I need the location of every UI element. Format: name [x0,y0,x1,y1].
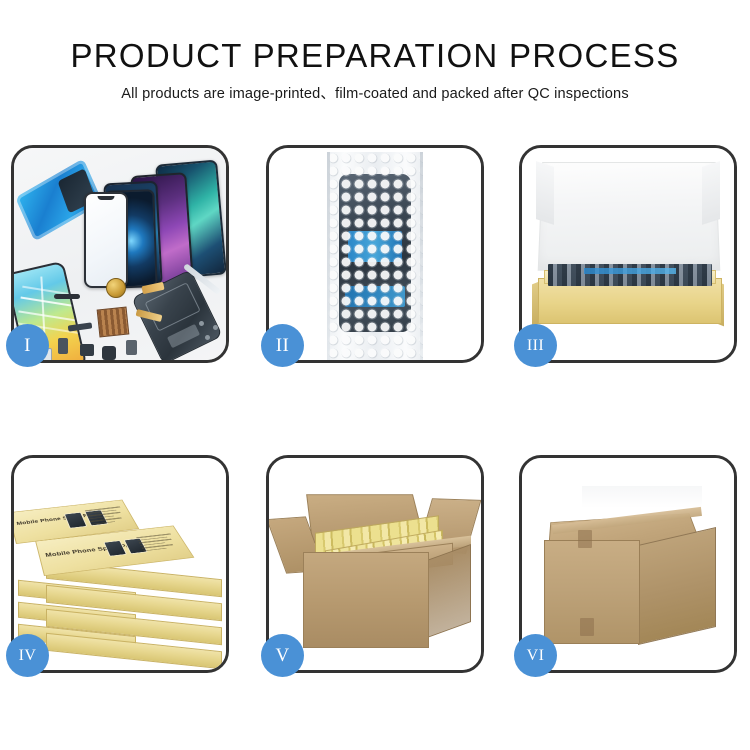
box-thumb-image [103,540,127,556]
bubble-highlight-layer [327,152,423,360]
screw-graphic [213,325,218,330]
retail-box-spec-lines [85,506,129,526]
process-step-4[interactable]: Mobile Phone Spare Parts Mobile Phone Sp… [11,455,229,673]
process-step-grid: I II [11,145,739,675]
process-step-6[interactable]: VI [519,455,737,673]
page-header: PRODUCT PREPARATION PROCESS All products… [0,36,750,104]
small-part-graphic [80,344,94,356]
step-1-illustration [14,148,226,360]
step-badge-6: VI [514,634,557,677]
screw-graphic [205,335,210,340]
small-part-graphic [126,340,137,355]
small-part-graphic [102,346,116,360]
glass-digitizer-graphic [84,192,128,288]
earpiece-mesh-graphic [54,294,80,299]
step-badge-5: V [261,634,304,677]
carton-seal-tab [578,530,592,548]
box-thumb-image [64,512,87,529]
step-badge-4: IV [6,634,49,677]
sealed-carton-side [638,527,716,645]
vibration-motor-graphic [106,278,126,298]
page-subtitle: All products are image-printed、film-coat… [0,84,750,104]
process-step-2[interactable]: II [266,145,484,363]
chip-array-graphic [97,307,130,338]
bag-edge-right [420,152,423,360]
bag-edge-left [327,152,330,360]
page-title: PRODUCT PREPARATION PROCESS [0,36,750,76]
step-6-illustration [522,458,734,670]
carton-side-panel [427,544,471,638]
lid-flap-right [702,161,720,225]
carton-highlight [582,486,702,508]
process-step-1[interactable]: I [11,145,229,363]
page-root: PRODUCT PREPARATION PROCESS All products… [0,0,750,750]
step-5-illustration [269,458,481,670]
retail-box-spec-lines [136,533,180,553]
carton-seal-tab [580,618,594,636]
step-badge-2: II [261,324,304,367]
step-2-illustration [269,148,481,360]
process-step-5[interactable]: V [266,455,484,673]
step-badge-3: III [514,324,557,367]
carton-front-panel [303,552,429,648]
wrapped-parts-row-graphic [548,264,712,286]
step-4-illustration: Mobile Phone Spare Parts Mobile Phone Sp… [14,458,226,670]
process-step-3[interactable]: III [519,145,737,363]
step-3-illustration [522,148,734,360]
lid-flap-left [536,161,554,225]
retail-box-stack-graphic: Mobile Phone Spare Parts Mobile Phone Sp… [14,458,226,670]
small-part-graphic [58,338,68,354]
step-badge-1: I [6,324,49,367]
screw-graphic [199,321,204,326]
white-lid-graphic [538,162,721,271]
